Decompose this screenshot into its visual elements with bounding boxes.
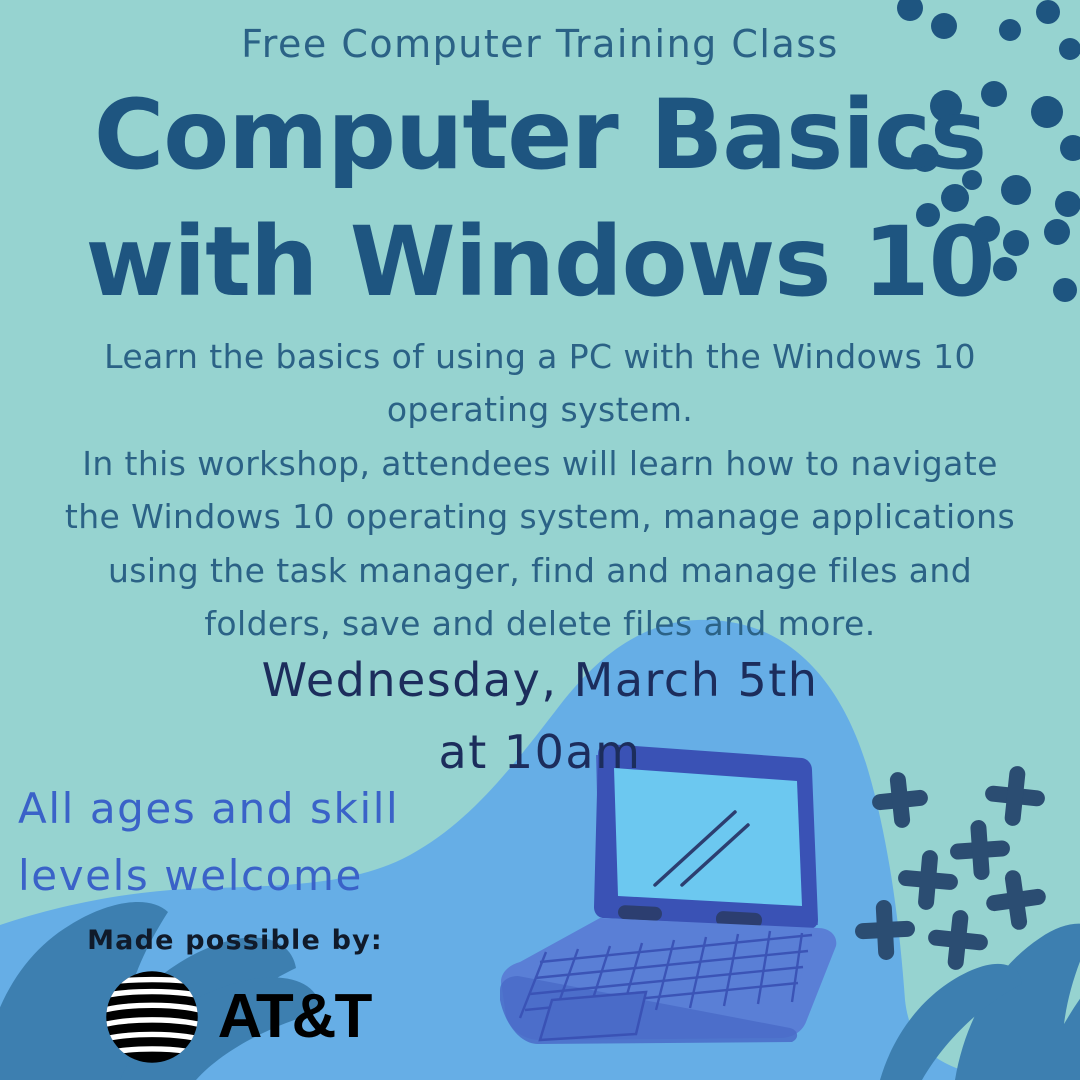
description-line-5: using the task manager, find and manage … bbox=[28, 544, 1052, 597]
page-title: Computer Basics with Windows 10 bbox=[0, 72, 1080, 325]
description-block: Learn the basics of using a PC with the … bbox=[0, 330, 1080, 651]
audience-note: All ages and skill levels welcome bbox=[18, 775, 478, 909]
att-globe-icon bbox=[100, 965, 204, 1069]
sponsor-logo: AT&T bbox=[0, 965, 470, 1069]
audience-note-line-1: All ages and skill bbox=[18, 775, 478, 842]
description-line-2: operating system. bbox=[28, 383, 1052, 436]
audience-note-line-2: levels welcome bbox=[18, 842, 478, 909]
description-line-4: the Windows 10 operating system, manage … bbox=[28, 490, 1052, 543]
description-line-1: Learn the basics of using a PC with the … bbox=[28, 330, 1052, 383]
att-wordmark: AT&T bbox=[218, 986, 371, 1048]
description-line-6: folders, save and delete files and more. bbox=[28, 597, 1052, 650]
kicker-text: Free Computer Training Class bbox=[0, 22, 1080, 66]
sponsor-label: Made possible by: bbox=[0, 925, 470, 956]
event-datetime: Wednesday, March 5th at 10am bbox=[0, 645, 1080, 789]
event-date: Wednesday, March 5th bbox=[0, 645, 1080, 717]
title-line-1: Computer Basics bbox=[0, 72, 1080, 199]
flyer-poster: Free Computer Training Class Computer Ba… bbox=[0, 0, 1080, 1080]
title-line-2: with Windows 10 bbox=[0, 199, 1080, 326]
description-line-3: In this workshop, attendees will learn h… bbox=[28, 437, 1052, 490]
